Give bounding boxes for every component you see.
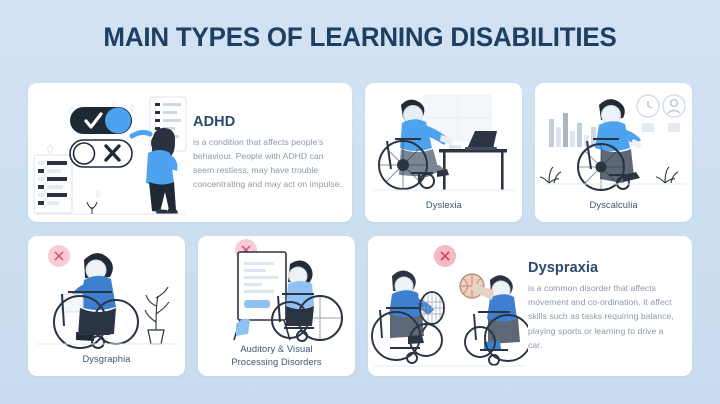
adhd-person-icon: [132, 128, 178, 214]
page-title: MAIN TYPES OF LEARNING DISABILITIES: [14, 22, 705, 53]
dyspraxia-body: is a common disorder that affects moveme…: [528, 281, 678, 352]
icon-caption-blocks: [642, 123, 680, 132]
toggle-off-cross-icon: [70, 140, 132, 167]
potted-plant-icon: [145, 287, 169, 344]
dyspraxia-text-block: Dyspraxia is a common disorder that affe…: [528, 260, 688, 352]
pink-badge-icon: [48, 245, 70, 267]
adhd-illustration: [28, 83, 193, 222]
sprout-icon: [87, 202, 97, 214]
card-dyscalculia[interactable]: Dyscalculia: [535, 83, 692, 222]
dysgraphia-caption: Dysgraphia: [28, 353, 185, 366]
bar-chart-icon: [549, 113, 603, 147]
checklist-panel-left: [34, 155, 72, 213]
card-grid: ADHD is a condition that affects people'…: [28, 83, 692, 376]
adhd-text-block: ADHD is a condition that affects people'…: [193, 114, 352, 192]
card-row-top: ADHD is a condition that affects people'…: [28, 83, 692, 222]
auditory-caption-line1: Auditory & Visual: [240, 344, 312, 354]
adhd-art-svg: [28, 83, 193, 222]
adhd-heading: ADHD: [193, 114, 342, 130]
infographic-poster: MAIN TYPES OF LEARNING DISABILITIES: [0, 0, 720, 404]
user-circle-icon: [663, 95, 685, 117]
dyslexia-caption: Dyslexia: [365, 199, 522, 212]
card-adhd[interactable]: ADHD is a condition that affects people'…: [28, 83, 352, 222]
auditory-caption-line2: Processing Disorders: [231, 357, 321, 367]
card-dyspraxia[interactable]: Dyspraxia is a common disorder that affe…: [368, 236, 692, 376]
desk-icon: [439, 149, 507, 190]
dyspraxia-art-svg: [368, 236, 528, 376]
adhd-body: is a condition that affects people's beh…: [193, 135, 342, 192]
dyscalculia-caption: Dyscalculia: [535, 199, 692, 212]
clock-circle-icon: [637, 95, 659, 117]
dyspraxia-heading: Dyspraxia: [528, 260, 678, 276]
card-dyslexia[interactable]: Dyslexia: [365, 83, 522, 222]
dyscalculia-art-svg: [535, 83, 692, 198]
dysgraphia-art-svg: [28, 236, 185, 351]
auditory-caption: Auditory & Visual Processing Disorders: [198, 343, 355, 368]
auditory-art-svg: [198, 236, 355, 344]
dyspraxia-illustration: [368, 236, 528, 376]
card-row-bottom: Dysgraphia: [28, 236, 692, 376]
card-auditory-visual[interactable]: Auditory & Visual Processing Disorders: [198, 236, 355, 376]
toggle-on-check-icon: [70, 107, 132, 134]
card-dysgraphia[interactable]: Dysgraphia: [28, 236, 185, 376]
page-title-wrap: MAIN TYPES OF LEARNING DISABILITIES: [0, 22, 720, 53]
hand-icon: [236, 319, 250, 336]
pink-badge-icon: [434, 245, 456, 267]
paper-icon: [449, 145, 461, 149]
dyslexia-art-svg: [365, 83, 522, 198]
